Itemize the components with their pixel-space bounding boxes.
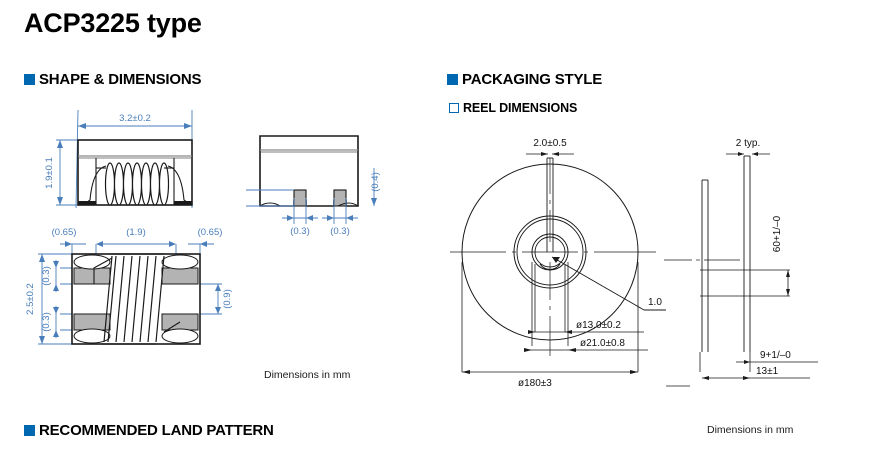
top-view-depth-dim: 2.5±0.2: [25, 283, 36, 315]
top-view-band-upper-dim: (0.3): [41, 266, 52, 286]
side-view-drawing: (0.3) (0.3): [246, 128, 386, 238]
top-view-span-center-dim: (1.9): [126, 227, 146, 238]
reel-flange-thickness-dim: 2 typ.: [736, 138, 760, 149]
page-title: ACP3225 type: [24, 8, 202, 39]
right-dimensions-caption: Dimensions in mm: [707, 424, 793, 436]
reel-flange-note: 1.0: [648, 297, 662, 308]
left-dimensions-caption: Dimensions in mm: [264, 369, 350, 381]
reel-hub-inner-dia-dim: ø13.0±0.2: [576, 320, 621, 331]
reel-core-width-dim-lines: [786, 270, 790, 296]
top-view-drawing: (0.65) (1.9) (0.65) 2.5±0.2 (0.3) (0.3): [24, 222, 254, 372]
side-view-terminal-height-dim-wrap: (0.4): [368, 160, 392, 204]
section-header-packaging-style-label: PACKAGING STYLE: [462, 71, 602, 88]
reel-hub-outer-dia-dim: ø21.0±0.8: [580, 338, 625, 349]
reel-hub-width-dim: 9+1/–0: [760, 350, 791, 361]
top-view-span-right-dim: (0.65): [198, 227, 223, 238]
section-header-shape-dimensions: SHAPE & DIMENSIONS: [24, 71, 201, 88]
reel-slot-width-dim: 2.0±0.5: [533, 138, 567, 149]
section-header-shape-dimensions-label: SHAPE & DIMENSIONS: [39, 71, 201, 88]
filled-square-icon: [447, 74, 458, 85]
filled-square-icon: [24, 425, 35, 436]
side-view-terminal-height-dim: (0.4): [370, 172, 381, 192]
reel-side-right-flange: [744, 156, 750, 352]
reel-diameter-dim: ø180±3: [518, 378, 552, 389]
reel-side-left-flange: [702, 180, 708, 352]
side-view-pad-left-dim: (0.3): [290, 226, 310, 237]
side-view-pad-right-dim: (0.3): [330, 226, 350, 237]
reel-side-hub-lines: [700, 270, 790, 296]
front-view-drawing: 3.2±0.2 1.9±0.1: [30, 100, 240, 230]
reel-slot-dim-lines: [526, 152, 574, 156]
hollow-square-icon: [449, 103, 459, 113]
reel-front-view-drawing: 2.0±0.5: [448, 124, 683, 404]
top-view-band-lower-dim: (0.3): [41, 312, 52, 332]
reel-core-width-dim: 60+1/–0: [772, 215, 783, 252]
front-view-width-dim: 3.2±0.2: [119, 113, 151, 124]
section-header-land-pattern: RECOMMENDED LAND PATTERN: [24, 422, 274, 439]
front-view-height-dim: 1.9±0.1: [44, 157, 55, 189]
subsection-header-reel-dimensions: REEL DIMENSIONS: [449, 101, 577, 115]
top-view-span-left-dim: (0.65): [52, 227, 77, 238]
reel-flange-thickness-dim-lines: [726, 152, 770, 156]
section-header-land-pattern-label: RECOMMENDED LAND PATTERN: [39, 422, 274, 439]
section-header-packaging-style: PACKAGING STYLE: [447, 71, 602, 88]
top-view-gap-dim: (0.9): [222, 289, 233, 309]
reel-dim180-line: [462, 370, 638, 374]
filled-square-icon: [24, 74, 35, 85]
subsection-header-reel-dimensions-label: REEL DIMENSIONS: [463, 101, 577, 115]
reel-overall-width-dim: 13±1: [756, 366, 779, 377]
reel-side-view-drawing: 2 typ.: [700, 124, 880, 384]
